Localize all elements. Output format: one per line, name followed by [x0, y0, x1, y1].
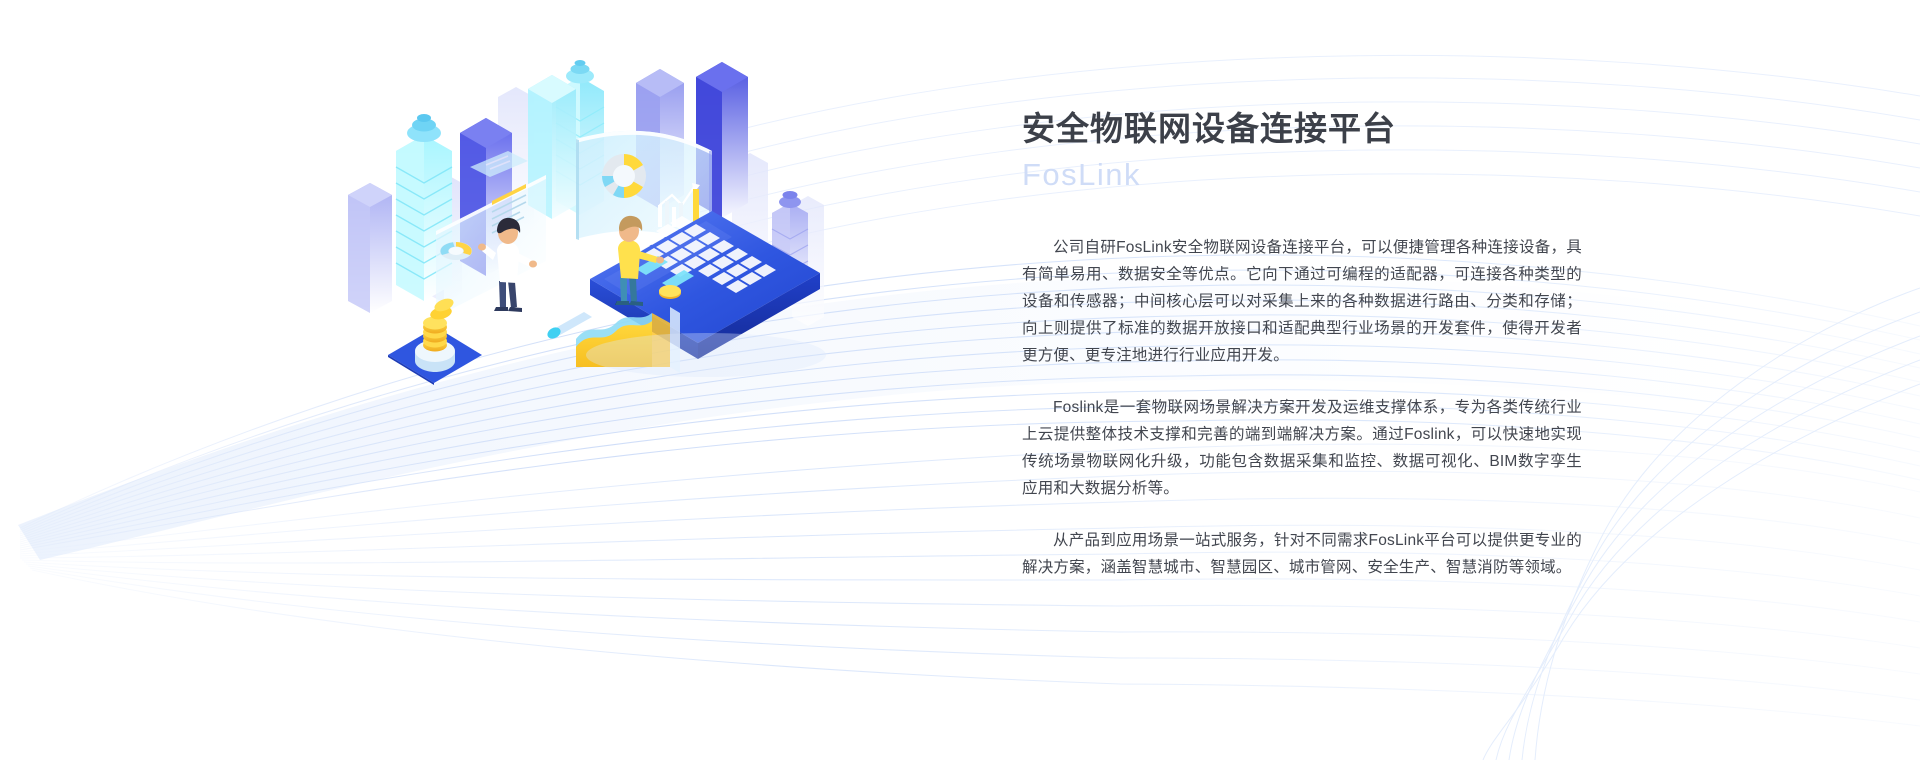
hero-text-column: 安全物联网设备连接平台 FosLink 公司自研FosLink安全物联网设备连接…	[1022, 108, 1582, 581]
page-title: 安全物联网设备连接平台	[1022, 108, 1582, 149]
building-periwinkle-a	[348, 183, 392, 313]
product-name-subtitle: FosLink	[1022, 155, 1582, 195]
background-wave-decoration	[0, 0, 1920, 760]
hero-section: 安全物联网设备连接平台 FosLink 公司自研FosLink安全物联网设备连接…	[0, 0, 1920, 760]
description-body: 公司自研FosLink安全物联网设备连接平台，可以便捷管理各种连接设备，具有简单…	[1022, 234, 1582, 581]
holo-donut-chart	[440, 242, 472, 260]
paragraph-1: 公司自研FosLink安全物联网设备连接平台，可以便捷管理各种连接设备，具有简单…	[1022, 234, 1582, 369]
coin-stack-pedestal	[388, 296, 482, 385]
screen-donut-chart	[602, 154, 646, 198]
paragraph-3: 从产品到应用场景一站式服务，针对不同需求FosLink平台可以提供更专业的解决方…	[1022, 527, 1582, 581]
paragraph-2: Foslink是一套物联网场景解决方案开发及运维支撑体系，专为各类传统行业上云提…	[1022, 394, 1582, 502]
isometric-city-illustration	[340, 55, 840, 385]
